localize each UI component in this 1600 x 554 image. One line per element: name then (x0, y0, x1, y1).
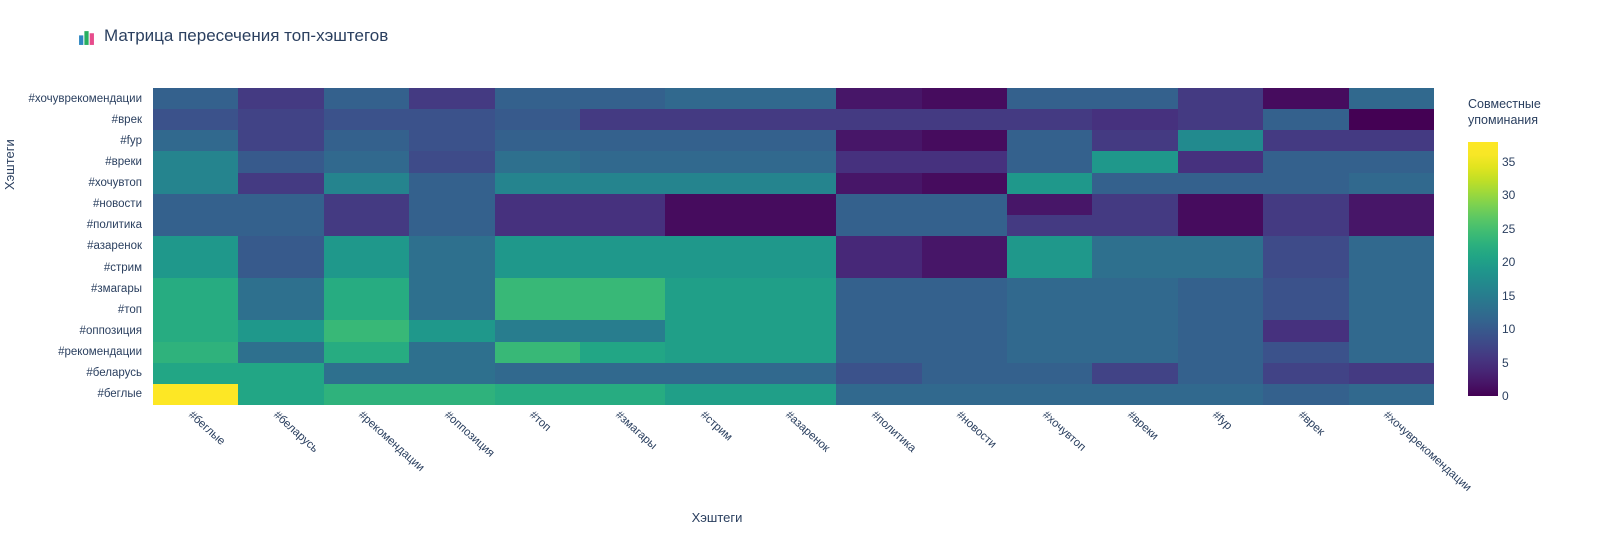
heatmap-cell[interactable] (665, 215, 750, 236)
heatmap-cell[interactable] (580, 88, 665, 109)
x-tick-label: #fyp (1178, 405, 1263, 515)
heatmap-cell[interactable] (238, 151, 323, 172)
heatmap-cell[interactable] (836, 363, 921, 384)
x-tick-label: #топ (495, 405, 580, 515)
heatmap-cell[interactable] (836, 215, 921, 236)
heatmap-cell[interactable] (1263, 342, 1348, 363)
heatmap-cell[interactable] (665, 194, 750, 215)
y-tick-label: #азаренок (0, 236, 148, 257)
heatmap-cell[interactable] (836, 236, 921, 257)
heatmap-cell[interactable] (1263, 299, 1348, 320)
heatmap-cell[interactable] (324, 384, 409, 405)
y-tick-label: #вреки (0, 151, 148, 172)
page-title: Матрица пересечения топ-хэштегов (78, 26, 388, 46)
heatmap-cell[interactable] (1178, 151, 1263, 172)
heatmap-cell[interactable] (1263, 88, 1348, 109)
heatmap-cell[interactable] (836, 151, 921, 172)
heatmap-cell[interactable] (1178, 363, 1263, 384)
heatmap-cell[interactable] (751, 257, 836, 278)
y-tick-label: #рекомендации (0, 342, 148, 363)
page-title-text: Матрица пересечения топ-хэштегов (104, 26, 388, 46)
heatmap-cell[interactable] (1178, 320, 1263, 341)
heatmap-cell[interactable] (836, 109, 921, 130)
heatmap-cell[interactable] (1092, 130, 1177, 151)
heatmap-cell[interactable] (1263, 194, 1348, 215)
heatmap-cell[interactable] (665, 257, 750, 278)
x-tick-label: #политика (836, 405, 921, 515)
heatmap-cell[interactable] (1263, 215, 1348, 236)
heatmap-cell[interactable] (1349, 320, 1434, 341)
heatmap-cell[interactable] (1349, 88, 1434, 109)
heatmap-cell[interactable] (409, 215, 494, 236)
heatmap-cell[interactable] (836, 384, 921, 405)
heatmap-cell[interactable] (324, 236, 409, 257)
heatmap-cell[interactable] (1178, 236, 1263, 257)
heatmap-cell[interactable] (580, 384, 665, 405)
heatmap-cell[interactable] (238, 384, 323, 405)
heatmap-cell[interactable] (922, 236, 1007, 257)
colorbar-tick-label: 0 (1502, 389, 1509, 403)
heatmap-cell[interactable] (324, 257, 409, 278)
heatmap-cell[interactable] (238, 342, 323, 363)
heatmap-cell[interactable] (153, 88, 238, 109)
heatmap-cell[interactable] (238, 194, 323, 215)
heatmap-cell[interactable] (1007, 299, 1092, 320)
heatmap-cell[interactable] (1349, 342, 1434, 363)
heatmap-cell[interactable] (665, 363, 750, 384)
y-tick-label: #беглые (0, 384, 148, 405)
heatmap-cell[interactable] (409, 130, 494, 151)
heatmap-cell[interactable] (238, 173, 323, 194)
heatmap-cell[interactable] (836, 320, 921, 341)
heatmap-cell[interactable] (1007, 384, 1092, 405)
heatmap-cell[interactable] (1349, 194, 1434, 215)
heatmap-cell[interactable] (580, 257, 665, 278)
heatmap-cell[interactable] (495, 88, 580, 109)
heatmap-cell[interactable] (836, 194, 921, 215)
x-tick-label: #хочуврекомендации (1349, 405, 1434, 515)
heatmap-cell[interactable] (409, 151, 494, 172)
heatmap-cell[interactable] (1178, 278, 1263, 299)
heatmap-cell[interactable] (580, 236, 665, 257)
heatmap-cell[interactable] (580, 320, 665, 341)
heatmap-cell[interactable] (1349, 278, 1434, 299)
heatmap-cell[interactable] (751, 278, 836, 299)
heatmap-cell[interactable] (409, 236, 494, 257)
heatmap-cell[interactable] (580, 363, 665, 384)
heatmap-cell[interactable] (751, 109, 836, 130)
heatmap-cell[interactable] (409, 384, 494, 405)
heatmap-cell[interactable] (238, 278, 323, 299)
heatmap-cell[interactable] (665, 320, 750, 341)
heatmap-cell[interactable] (580, 130, 665, 151)
heatmap-cell[interactable] (665, 88, 750, 109)
heatmap-cell[interactable] (1349, 257, 1434, 278)
heatmap-cell[interactable] (836, 257, 921, 278)
heatmap-cell[interactable] (324, 173, 409, 194)
heatmap-cell[interactable] (922, 384, 1007, 405)
heatmap-cell[interactable] (665, 299, 750, 320)
x-axis-title: Хэштеги (0, 510, 1434, 525)
heatmap-cell[interactable] (836, 278, 921, 299)
heatmap-cell[interactable] (751, 299, 836, 320)
heatmap-cell[interactable] (922, 194, 1007, 215)
heatmap-cell[interactable] (1263, 278, 1348, 299)
heatmap-cell[interactable] (1007, 363, 1092, 384)
heatmap-cell[interactable] (324, 215, 409, 236)
heatmap-cell[interactable] (665, 151, 750, 172)
heatmap-cell[interactable] (1007, 215, 1092, 236)
x-tick-label: #азаренок (751, 405, 836, 515)
heatmap-cell[interactable] (153, 257, 238, 278)
y-tick-label: #оппозиция (0, 320, 148, 341)
heatmap-cell[interactable] (1178, 194, 1263, 215)
heatmap-cell[interactable] (1092, 194, 1177, 215)
heatmap-cell[interactable] (1349, 130, 1434, 151)
heatmap-cell[interactable] (836, 173, 921, 194)
heatmap-cell[interactable] (580, 109, 665, 130)
colorbar-tick-label: 10 (1502, 322, 1515, 336)
heatmap-cell[interactable] (751, 342, 836, 363)
heatmap-cell[interactable] (922, 151, 1007, 172)
heatmap-cell[interactable] (1349, 236, 1434, 257)
heatmap-cell[interactable] (238, 215, 323, 236)
heatmap-cell[interactable] (751, 194, 836, 215)
x-tick-label: #хочувтоп (1007, 405, 1092, 515)
heatmap-cell[interactable] (580, 278, 665, 299)
heatmap-cell[interactable] (1178, 257, 1263, 278)
heatmap-cell[interactable] (665, 236, 750, 257)
heatmap-cell[interactable] (1092, 299, 1177, 320)
heatmap-cell[interactable] (1007, 320, 1092, 341)
heatmap-cell[interactable] (1263, 384, 1348, 405)
heatmap-cell[interactable] (238, 88, 323, 109)
heatmap-cell[interactable] (409, 320, 494, 341)
heatmap-cell[interactable] (238, 299, 323, 320)
heatmap-cell[interactable] (1349, 151, 1434, 172)
heatmap-cell[interactable] (153, 194, 238, 215)
heatmap-cell[interactable] (1092, 342, 1177, 363)
heatmap-cell[interactable] (665, 384, 750, 405)
heatmap-cell[interactable] (922, 173, 1007, 194)
heatmap-cell[interactable] (836, 342, 921, 363)
heatmap-cell[interactable] (495, 363, 580, 384)
heatmap-cell[interactable] (1092, 320, 1177, 341)
heatmap-cell[interactable] (153, 151, 238, 172)
colorbar-tick-label: 25 (1502, 222, 1515, 236)
y-tick-labels: #хочуврекомендации#врек#fyp#вреки#хочувт… (0, 88, 148, 405)
heatmap-cell[interactable] (1007, 194, 1092, 215)
heatmap-cell[interactable] (751, 130, 836, 151)
x-tick-label: #беглые (153, 405, 238, 515)
heatmap-cell[interactable] (1349, 215, 1434, 236)
colorbar-gradient (1468, 142, 1498, 396)
heatmap-cell[interactable] (238, 320, 323, 341)
colorbar-title-line1: Совместные (1468, 96, 1598, 112)
heatmap-cell[interactable] (751, 384, 836, 405)
heatmap-cell[interactable] (1349, 299, 1434, 320)
heatmap-cell[interactable] (1178, 173, 1263, 194)
heatmap-cell[interactable] (580, 151, 665, 172)
heatmap-cell[interactable] (153, 236, 238, 257)
heatmap-cell[interactable] (1178, 130, 1263, 151)
heatmap-cell[interactable] (409, 194, 494, 215)
x-tick-label: #рекомендации (324, 405, 409, 515)
heatmap-cell[interactable] (324, 363, 409, 384)
heatmap-cell[interactable] (1263, 257, 1348, 278)
heatmap-cell[interactable] (409, 173, 494, 194)
colorbar-title: Совместные упоминания (1468, 96, 1598, 128)
heatmap-cell[interactable] (922, 342, 1007, 363)
heatmap-cell[interactable] (922, 88, 1007, 109)
heatmap-cell[interactable] (922, 299, 1007, 320)
heatmap-cell[interactable] (580, 299, 665, 320)
heatmap-cell[interactable] (665, 173, 750, 194)
heatmap-cell[interactable] (324, 88, 409, 109)
heatmap-cell[interactable] (1007, 88, 1092, 109)
heatmap-cell[interactable] (1178, 88, 1263, 109)
colorbar-ticks: 05101520253035 (1502, 142, 1562, 396)
heatmap-cell[interactable] (1092, 109, 1177, 130)
heatmap-cell[interactable] (495, 320, 580, 341)
heatmap-cell[interactable] (495, 342, 580, 363)
heatmap-cell[interactable] (1263, 236, 1348, 257)
heatmap-cell[interactable] (495, 257, 580, 278)
heatmap-cell[interactable] (1349, 109, 1434, 130)
heatmap-cell[interactable] (153, 109, 238, 130)
heatmap-cell[interactable] (1092, 236, 1177, 257)
heatmap-cell[interactable] (1092, 363, 1177, 384)
heatmap-cell[interactable] (922, 363, 1007, 384)
heatmap-cell[interactable] (1007, 278, 1092, 299)
heatmap-cell[interactable] (922, 278, 1007, 299)
heatmap-cell[interactable] (238, 236, 323, 257)
heatmap-cell[interactable] (153, 299, 238, 320)
x-tick-label: #стрим (665, 405, 750, 515)
bar-chart-icon (78, 29, 95, 46)
heatmap-cell[interactable] (1092, 88, 1177, 109)
y-tick-label: #политика (0, 215, 148, 236)
heatmap-cell[interactable] (153, 130, 238, 151)
heatmap-cell[interactable] (1263, 363, 1348, 384)
heatmap-cell[interactable] (495, 278, 580, 299)
heatmap-cell[interactable] (1263, 151, 1348, 172)
y-tick-label: #топ (0, 299, 148, 320)
heatmap-cell[interactable] (751, 215, 836, 236)
heatmap-cell[interactable] (922, 320, 1007, 341)
heatmap-cell[interactable] (665, 342, 750, 363)
heatmap-cell[interactable] (922, 109, 1007, 130)
heatmap-cell[interactable] (238, 363, 323, 384)
heatmap-cell[interactable] (238, 130, 323, 151)
heatmap-cell[interactable] (1263, 173, 1348, 194)
heatmap-cell[interactable] (751, 173, 836, 194)
heatmap-cell[interactable] (1007, 151, 1092, 172)
heatmap-cell[interactable] (1092, 384, 1177, 405)
heatmap-cell[interactable] (751, 363, 836, 384)
heatmap-cell[interactable] (1092, 151, 1177, 172)
heatmap-cell[interactable] (922, 257, 1007, 278)
heatmap-cell[interactable] (665, 278, 750, 299)
heatmap-cell[interactable] (836, 88, 921, 109)
heatmap-cell[interactable] (153, 363, 238, 384)
heatmap-cell[interactable] (495, 299, 580, 320)
heatmap-cell[interactable] (409, 88, 494, 109)
heatmap-cell[interactable] (1007, 130, 1092, 151)
heatmap-cell[interactable] (409, 342, 494, 363)
heatmap-cell[interactable] (153, 173, 238, 194)
heatmap-cell[interactable] (1007, 109, 1092, 130)
colorbar-tick-label: 5 (1502, 356, 1509, 370)
heatmap-cell[interactable] (1092, 215, 1177, 236)
heatmap-cell[interactable] (495, 194, 580, 215)
heatmap-cell[interactable] (1178, 299, 1263, 320)
y-tick-label: #хочувтоп (0, 173, 148, 194)
x-tick-label: #беларусь (238, 405, 323, 515)
heatmap-cell[interactable] (324, 278, 409, 299)
heatmap-cell[interactable] (495, 130, 580, 151)
x-tick-label: #змагары (580, 405, 665, 515)
colorbar-tick-label: 30 (1502, 188, 1515, 202)
heatmap-cell[interactable] (580, 342, 665, 363)
heatmap-cell[interactable] (495, 215, 580, 236)
heatmap-cell[interactable] (922, 215, 1007, 236)
heatmap-cell[interactable] (324, 109, 409, 130)
heatmap-cell[interactable] (922, 130, 1007, 151)
heatmap-cell[interactable] (580, 173, 665, 194)
heatmap-cell[interactable] (1349, 173, 1434, 194)
heatmap-cell[interactable] (238, 109, 323, 130)
colorbar-title-line2: упоминания (1468, 112, 1598, 128)
heatmap-cell[interactable] (1349, 363, 1434, 384)
heatmap-cell[interactable] (751, 236, 836, 257)
heatmap-plot[interactable] (153, 88, 1434, 405)
heatmap-cell[interactable] (1263, 320, 1348, 341)
y-tick-label: #fyp (0, 130, 148, 151)
heatmap-cell[interactable] (1263, 109, 1348, 130)
heatmap-cell[interactable] (1092, 173, 1177, 194)
heatmap-cell[interactable] (495, 173, 580, 194)
heatmap-cell[interactable] (238, 257, 323, 278)
heatmap-cell[interactable] (409, 363, 494, 384)
heatmap-cell[interactable] (409, 257, 494, 278)
heatmap-cell[interactable] (665, 130, 750, 151)
colorbar-tick-label: 15 (1502, 289, 1515, 303)
heatmap-cell[interactable] (1349, 384, 1434, 405)
y-tick-label: #врек (0, 109, 148, 130)
y-tick-label: #хочуврекомендации (0, 88, 148, 109)
x-tick-labels: #беглые#беларусь#рекомендации#оппозиция#… (153, 405, 1434, 515)
heatmap-cell[interactable] (153, 342, 238, 363)
heatmap-cell[interactable] (751, 320, 836, 341)
heatmap-cell[interactable] (1007, 342, 1092, 363)
heatmap-cell[interactable] (409, 109, 494, 130)
heatmap-cell[interactable] (836, 130, 921, 151)
heatmap-cell[interactable] (751, 88, 836, 109)
heatmap-cell[interactable] (495, 236, 580, 257)
heatmap-cell[interactable] (580, 215, 665, 236)
heatmap-cell[interactable] (1007, 236, 1092, 257)
x-tick-label: #вреки (1092, 405, 1177, 515)
heatmap-cell[interactable] (1178, 384, 1263, 405)
heatmap-cell[interactable] (1092, 257, 1177, 278)
colorbar-tick-label: 35 (1502, 155, 1515, 169)
heatmap-cell[interactable] (1263, 130, 1348, 151)
heatmap-cell[interactable] (324, 151, 409, 172)
heatmap-cell[interactable] (836, 299, 921, 320)
heatmap-cell[interactable] (495, 109, 580, 130)
heatmap-cell[interactable] (324, 320, 409, 341)
heatmap-cell[interactable] (324, 299, 409, 320)
heatmap-cell[interactable] (409, 278, 494, 299)
heatmap-cell[interactable] (324, 194, 409, 215)
heatmap-cell[interactable] (495, 384, 580, 405)
y-tick-label: #новости (0, 194, 148, 215)
y-tick-label: #змагары (0, 278, 148, 299)
heatmap-cell[interactable] (495, 151, 580, 172)
heatmap-cell[interactable] (324, 342, 409, 363)
y-tick-label: #беларусь (0, 363, 148, 384)
heatmap-cell[interactable] (1092, 278, 1177, 299)
heatmap-cell[interactable] (153, 215, 238, 236)
heatmap-cell[interactable] (153, 384, 238, 405)
heatmap-cell[interactable] (153, 278, 238, 299)
heatmap-cell[interactable] (1178, 342, 1263, 363)
heatmap-cell[interactable] (1007, 173, 1092, 194)
colorbar-tick-label: 20 (1502, 255, 1515, 269)
heatmap-cell[interactable] (580, 194, 665, 215)
heatmap-cell[interactable] (1178, 109, 1263, 130)
heatmap-cell[interactable] (1007, 257, 1092, 278)
heatmap-cell[interactable] (409, 299, 494, 320)
heatmap-cell[interactable] (153, 320, 238, 341)
heatmap-cell[interactable] (751, 151, 836, 172)
heatmap-cell[interactable] (1178, 215, 1263, 236)
y-tick-label: #стрим (0, 257, 148, 278)
x-tick-label: #новости (922, 405, 1007, 515)
heatmap-cell[interactable] (324, 130, 409, 151)
x-tick-label: #оппозиция (409, 405, 494, 515)
x-tick-label: #врек (1263, 405, 1348, 515)
heatmap-cell[interactable] (665, 109, 750, 130)
